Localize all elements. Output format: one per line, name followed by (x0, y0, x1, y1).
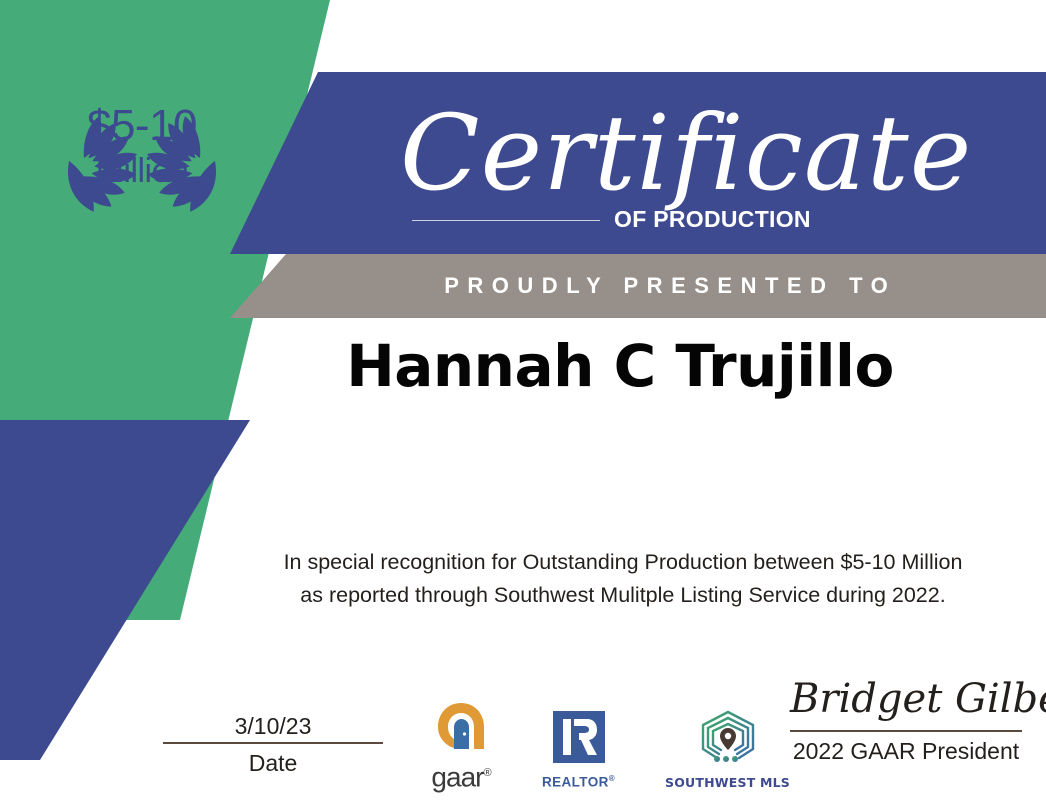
realtor-r-icon (551, 709, 607, 765)
logo-southwest-mls: SOUTHWEST MLS (665, 709, 790, 790)
gaar-registered: ® (483, 767, 490, 779)
southwest-mls-wordmark: SOUTHWEST MLS (665, 775, 790, 790)
recognition-text: In special recognition for Outstanding P… (183, 546, 1046, 612)
gaar-door-arch-icon (430, 699, 492, 753)
realtor-name: REALTOR (542, 774, 609, 789)
title-divider (412, 220, 600, 221)
certificate-canvas: $5-10 Million Certificate OF PRODUCTION … (0, 0, 1046, 807)
date-caption: Date (163, 744, 383, 780)
recipient-name: Hannah C Trujillo (250, 330, 990, 402)
southwest-mls-hexagon-pin-icon (695, 709, 761, 767)
realtor-registered: ® (609, 774, 615, 783)
gaar-name: gaar (431, 761, 483, 792)
date-block: 3/10/23 Date (163, 712, 383, 780)
recognition-line-1: In special recognition for Outstanding P… (183, 546, 1046, 579)
production-level-badge: $5-10 Million (22, 62, 262, 252)
badge-unit: Million (22, 154, 262, 188)
logo-realtor: REALTOR® (542, 709, 615, 791)
gaar-wordmark: gaar® (430, 760, 492, 790)
badge-amount: $5-10 (22, 104, 262, 148)
certificate-title-group: Certificate OF PRODUCTION (400, 78, 830, 254)
partner-logos: gaar® REALTOR® (430, 700, 790, 790)
signature-value: Bridget Gilbert (790, 670, 1022, 728)
recognition-line-2: as reported through Southwest Mulitple L… (183, 579, 1046, 612)
realtor-wordmark: REALTOR® (542, 771, 615, 791)
title-subtitle: OF PRODUCTION (614, 206, 811, 233)
presented-to-label: PROUDLY PRESENTED TO (286, 254, 1046, 318)
date-value: 3/10/23 (163, 712, 383, 740)
signature-block: Bridget Gilbert 2022 GAAR President (790, 670, 1022, 768)
signature-caption: 2022 GAAR President (790, 732, 1022, 768)
logo-gaar: gaar® (430, 699, 492, 790)
